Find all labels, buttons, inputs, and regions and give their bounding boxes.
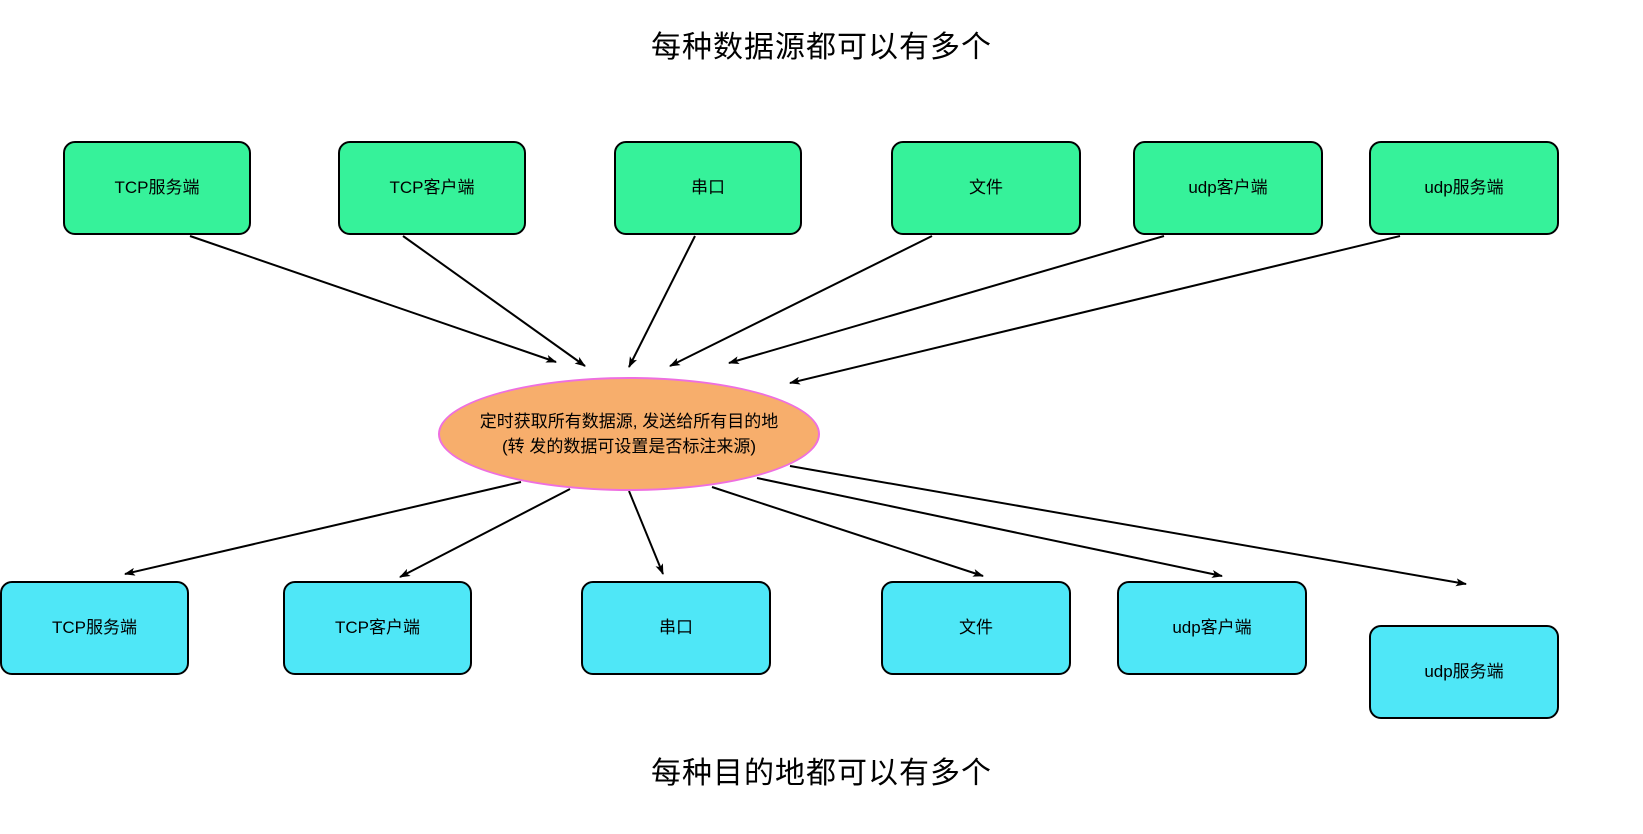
arrow-from-hub-5 xyxy=(757,478,1222,576)
dest-node-3[interactable]: 串口 xyxy=(581,581,771,675)
dest-node-1[interactable]: TCP服务端 xyxy=(0,581,189,675)
arrow-to-hub-3 xyxy=(629,236,695,367)
dest-node-2[interactable]: TCP客户端 xyxy=(283,581,472,675)
source-node-2[interactable]: TCP客户端 xyxy=(338,141,526,235)
central-hub-node[interactable]: 定时获取所有数据源, 发送给所有目的地(转 发的数据可设置是否标注来源) xyxy=(438,377,820,491)
arrow-from-hub-6 xyxy=(790,466,1466,584)
source-node-4[interactable]: 文件 xyxy=(891,141,1081,235)
source-node-label: TCP客户端 xyxy=(390,177,475,198)
dest-node-6[interactable]: udp服务端 xyxy=(1369,625,1559,719)
source-node-label: udp服务端 xyxy=(1424,177,1503,198)
arrow-from-hub-2 xyxy=(400,489,570,577)
arrow-from-hub-3 xyxy=(629,491,663,574)
source-node-label: TCP服务端 xyxy=(115,177,200,198)
dest-node-label: 串口 xyxy=(659,617,693,638)
source-node-label: 串口 xyxy=(691,177,725,198)
dest-node-label: TCP客户端 xyxy=(335,617,420,638)
dest-node-label: 文件 xyxy=(959,617,993,638)
hub-label-line2: 发的数据可设置是否标注来源) xyxy=(529,437,756,456)
source-node-5[interactable]: udp客户端 xyxy=(1133,141,1323,235)
incoming-edges xyxy=(190,236,1400,383)
dest-node-label: udp客户端 xyxy=(1172,617,1251,638)
top-caption: 每种数据源都可以有多个 xyxy=(0,22,1643,66)
arrow-from-hub-1 xyxy=(125,482,521,574)
hub-label: 定时获取所有数据源, 发送给所有目的地(转 发的数据可设置是否标注来源) xyxy=(474,409,784,460)
source-node-label: 文件 xyxy=(969,177,1003,198)
arrow-to-hub-6 xyxy=(790,236,1400,383)
arrow-to-hub-2 xyxy=(403,236,585,366)
outgoing-edges xyxy=(125,466,1466,584)
arrow-to-hub-4 xyxy=(670,236,932,366)
dest-node-label: TCP服务端 xyxy=(52,617,137,638)
source-node-3[interactable]: 串口 xyxy=(614,141,802,235)
bottom-caption: 每种目的地都可以有多个 xyxy=(0,748,1643,792)
dest-node-4[interactable]: 文件 xyxy=(881,581,1071,675)
arrow-to-hub-1 xyxy=(190,236,556,362)
dest-node-5[interactable]: udp客户端 xyxy=(1117,581,1307,675)
arrow-from-hub-4 xyxy=(712,487,983,576)
diagram-canvas: 每种数据源都可以有多个 TCP服务端TCP客户端串口文件udp客户端udp服务端… xyxy=(0,0,1643,834)
source-node-6[interactable]: udp服务端 xyxy=(1369,141,1559,235)
arrow-to-hub-5 xyxy=(729,236,1164,363)
dest-node-label: udp服务端 xyxy=(1424,661,1503,682)
source-node-1[interactable]: TCP服务端 xyxy=(63,141,251,235)
source-node-label: udp客户端 xyxy=(1188,177,1267,198)
